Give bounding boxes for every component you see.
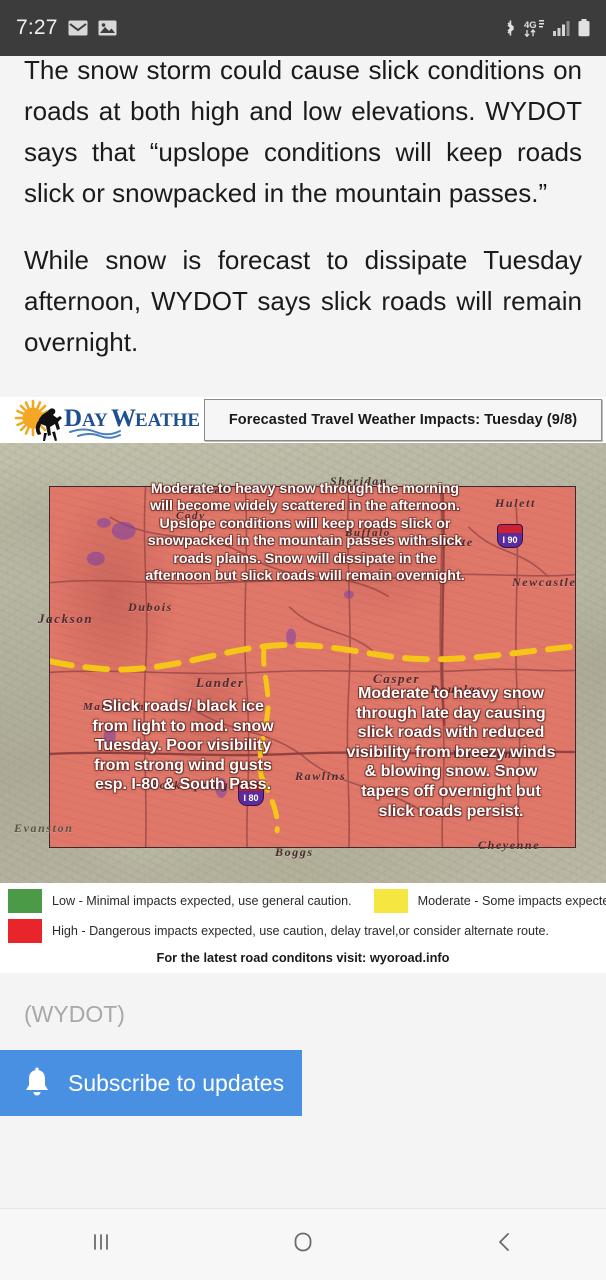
battery-icon — [578, 19, 590, 37]
status-clock: 7:27 — [16, 16, 58, 40]
svg-text:EATHER: EATHER — [135, 410, 200, 431]
4g-lte-icon: 4G — [524, 19, 546, 37]
graphic-header: D AY W EATHER Forecasted Travel Weather … — [0, 397, 606, 443]
signal-bars-icon — [553, 20, 571, 36]
city-label-douglas: Douglas — [430, 682, 483, 697]
subscribe-button-label: Subscribe to updates — [68, 1070, 284, 1097]
back-chevron-icon — [492, 1229, 518, 1260]
status-bar: 7:27 4G — [0, 0, 606, 56]
bluetooth-icon — [504, 19, 517, 37]
shield-crown — [239, 783, 263, 791]
graphic-title-box: Forecasted Travel Weather Impacts: Tuesd… — [204, 399, 602, 441]
shield-number: I 80 — [243, 791, 258, 805]
city-label-boggs: Boggs — [275, 845, 314, 860]
city-label-sheridan: Sheridan — [330, 474, 388, 489]
dayweather-logo-svg: D AY W EATHER — [8, 399, 200, 441]
back-button[interactable] — [404, 1209, 606, 1280]
legend-swatch-low — [8, 889, 42, 913]
legend-row-1: Low - Minimal impacts expected, use gene… — [8, 889, 598, 913]
legend-item-moderate: Moderate - Some impacts expected, use ex… — [374, 889, 606, 913]
article-paragraph-1: The snow storm could cause slick conditi… — [24, 56, 582, 214]
weather-map[interactable]: Jackson Dubois Cody Powell Sheridan Buff… — [0, 443, 606, 883]
home-icon — [290, 1229, 316, 1260]
svg-text:D: D — [64, 405, 82, 432]
interstate-90-shield-icon: I 90 — [497, 524, 523, 548]
weather-graphic[interactable]: D AY W EATHER Forecasted Travel Weather … — [0, 397, 606, 973]
article-body: The snow storm could cause slick conditi… — [0, 56, 606, 363]
dayweather-wordmark: D AY W EATHER — [64, 405, 200, 432]
city-label-hulett: Hulett — [495, 496, 536, 511]
shield-crown — [498, 525, 522, 533]
svg-text:4G: 4G — [524, 20, 537, 31]
status-bar-right: 4G — [504, 19, 590, 37]
shield-number: I 90 — [502, 533, 517, 547]
dayweather-logo: D AY W EATHER — [4, 399, 200, 441]
svg-text:AY: AY — [82, 410, 108, 431]
photo-icon — [98, 20, 117, 36]
subscribe-section: Subscribe to updates — [0, 1028, 606, 1116]
city-label-rawlins: Rawlins — [295, 769, 346, 784]
impact-legend: Low - Minimal impacts expected, use gene… — [0, 883, 606, 973]
city-label-gillette: Gillette — [425, 535, 474, 550]
city-label-wheatland: Wheatland — [452, 747, 520, 762]
city-label-powell: Powell — [190, 485, 230, 497]
image-caption: (WYDOT) — [0, 973, 606, 1028]
map-boundary-dashed-line — [50, 487, 575, 848]
city-label-cheyenne: Cheyenne — [478, 838, 540, 853]
graphic-title: Forecasted Travel Weather Impacts: Tuesd… — [229, 412, 577, 428]
page-bottom-spacer — [0, 1116, 606, 1206]
legend-swatch-high — [8, 919, 42, 943]
status-bar-left: 7:27 — [16, 16, 117, 40]
city-label-marbleton: Marbleton — [83, 701, 145, 713]
city-label-evanston: Evanston — [14, 821, 73, 836]
legend-label-moderate: Moderate - Some impacts expected, use ex… — [418, 894, 606, 908]
legend-item-high: High - Dangerous impacts expected, use c… — [8, 919, 549, 943]
legend-row-2: High - Dangerous impacts expected, use c… — [8, 919, 598, 943]
android-navigation-bar[interactable] — [0, 1208, 606, 1280]
legend-item-low: Low - Minimal impacts expected, use gene… — [8, 889, 352, 913]
city-label-lander: Lander — [196, 675, 245, 691]
recents-icon — [88, 1229, 114, 1260]
page-content[interactable]: The snow storm could cause slick conditi… — [0, 56, 606, 1280]
city-label-rock-springs: Rock Springs — [150, 778, 236, 793]
legend-footer-text: For the latest road conditons visit: wyo… — [8, 949, 598, 971]
bell-icon — [22, 1067, 52, 1099]
interstate-80-shield-icon: I 80 — [238, 782, 264, 806]
city-label-newcastle: Newcastle — [512, 575, 576, 590]
city-label-jackson: Jackson — [38, 611, 93, 627]
city-label-casper: Casper — [373, 671, 420, 687]
article-paragraph-2: While snow is forecast to dissipate Tues… — [24, 240, 582, 363]
email-icon — [68, 20, 88, 36]
legend-label-high: High - Dangerous impacts expected, use c… — [52, 924, 549, 938]
svg-text:W: W — [111, 405, 136, 432]
city-label-cody: Cody — [176, 510, 206, 522]
recents-button[interactable] — [0, 1209, 202, 1280]
legend-swatch-moderate — [374, 889, 408, 913]
city-label-dubois: Dubois — [128, 600, 173, 615]
home-button[interactable] — [202, 1209, 404, 1280]
city-label-buffalo: Buffalo — [345, 527, 391, 539]
legend-label-low: Low - Minimal impacts expected, use gene… — [52, 894, 352, 908]
subscribe-button[interactable]: Subscribe to updates — [0, 1050, 302, 1116]
